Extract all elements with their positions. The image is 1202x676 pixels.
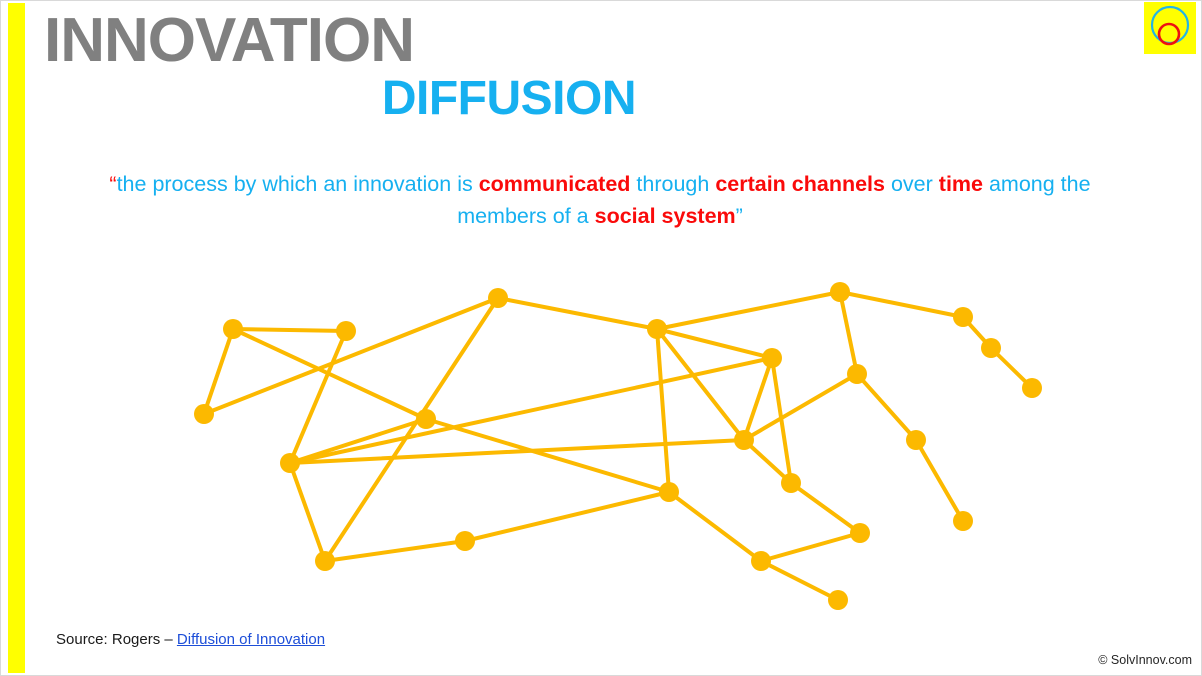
network-edge xyxy=(744,440,791,483)
network-edge xyxy=(325,298,498,561)
quote-emphasis: communicated xyxy=(479,172,631,196)
network-edge xyxy=(657,329,744,440)
network-edge xyxy=(233,329,346,331)
network-nodes xyxy=(194,282,1042,610)
network-edge xyxy=(290,419,426,463)
network-node xyxy=(455,531,475,551)
source-link[interactable]: Diffusion of Innovation xyxy=(177,631,325,648)
network-edge xyxy=(963,317,991,348)
network-node xyxy=(280,453,300,473)
network-node xyxy=(488,288,508,308)
network-node xyxy=(734,430,754,450)
slide-canvas: INNOVATION DIFFUSION “the process by whi… xyxy=(0,0,1202,676)
page-title: INNOVATION xyxy=(44,10,684,72)
network-edge xyxy=(465,492,669,541)
copyright-notice: © SolvInnov.com xyxy=(1098,653,1192,667)
quote-body: the process by which an innovation is co… xyxy=(117,172,1091,228)
network-edge xyxy=(857,374,916,440)
network-node xyxy=(336,321,356,341)
network-node xyxy=(847,364,867,384)
network-edge xyxy=(290,463,325,561)
quote-text: the process by which an innovation is xyxy=(117,172,479,196)
network-edge xyxy=(761,533,860,561)
network-node xyxy=(906,430,926,450)
network-node xyxy=(828,590,848,610)
network-edge xyxy=(761,561,838,600)
network-edge xyxy=(290,331,346,463)
network-node xyxy=(762,348,782,368)
network-node xyxy=(659,482,679,502)
network-node xyxy=(1022,378,1042,398)
network-node xyxy=(751,551,771,571)
network-edge xyxy=(325,541,465,561)
network-edge xyxy=(840,292,857,374)
network-node xyxy=(194,404,214,424)
network-edge xyxy=(204,298,498,414)
quote-emphasis: social system xyxy=(595,204,736,228)
network-edge xyxy=(657,292,840,329)
network-edge xyxy=(290,358,772,463)
network-edge xyxy=(744,358,772,440)
network-edge xyxy=(290,440,744,463)
network-edges xyxy=(204,292,1032,600)
network-node xyxy=(647,319,667,339)
logo-inner-circle xyxy=(1159,24,1179,44)
network-node xyxy=(315,551,335,571)
network-node xyxy=(850,523,870,543)
network-node xyxy=(953,511,973,531)
network-edge xyxy=(840,292,963,317)
network-edge xyxy=(426,419,669,492)
network-edge xyxy=(991,348,1032,388)
left-accent-bar xyxy=(8,3,25,673)
logo-circles-icon xyxy=(1144,2,1196,54)
network-edge xyxy=(657,329,772,358)
network-node xyxy=(416,409,436,429)
network-edge xyxy=(916,440,963,521)
network-node xyxy=(953,307,973,327)
source-citation: Source: Rogers – Diffusion of Innovation xyxy=(56,631,325,648)
network-edge xyxy=(233,329,426,419)
network-node xyxy=(830,282,850,302)
network-edge xyxy=(498,298,657,329)
network-edge xyxy=(772,358,791,483)
network-node xyxy=(781,473,801,493)
network-edge xyxy=(657,329,669,492)
network-edge xyxy=(744,374,857,440)
solvinnov-logo[interactable] xyxy=(1144,2,1196,54)
quote-text: through xyxy=(630,172,715,196)
network-edge xyxy=(204,329,233,414)
network-edge xyxy=(669,492,761,561)
open-quote-mark: “ xyxy=(109,172,116,196)
quote-emphasis: time xyxy=(939,172,983,196)
close-quote-mark: ” xyxy=(736,204,743,228)
page-subtitle: DIFFUSION xyxy=(44,72,684,126)
network-node xyxy=(981,338,1001,358)
definition-quote: “the process by which an innovation is c… xyxy=(95,168,1105,232)
title-block: INNOVATION DIFFUSION xyxy=(44,10,684,126)
quote-text: over xyxy=(885,172,939,196)
quote-emphasis: certain channels xyxy=(715,172,885,196)
network-node xyxy=(223,319,243,339)
source-prefix: Source: Rogers – xyxy=(56,631,177,648)
network-edge xyxy=(791,483,860,533)
